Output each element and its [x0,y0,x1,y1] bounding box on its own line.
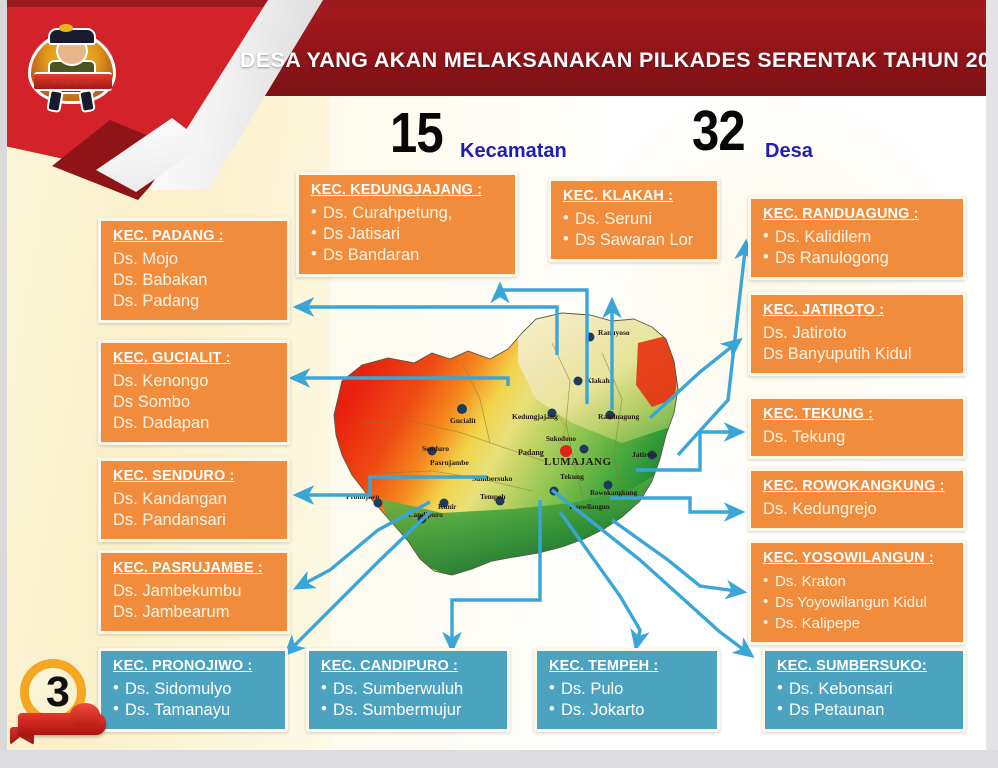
village-item: Ds. Sumberwuluh [321,679,497,700]
village-item: Ds Sawaran Lor [563,230,707,251]
village-item: Ds. Kandangan [113,489,277,510]
box-title: KEC. PADANG : [113,228,277,244]
svg-text:Padang: Padang [518,448,544,457]
village-item: Ds. Seruni [563,209,707,230]
slide-edge-bottom [0,750,998,768]
box-kec-pasrujambe[interactable]: KEC. PASRUJAMBE : Ds. Jambekumbu Ds. Jam… [98,550,290,634]
village-list: Ds. Kebonsari Ds Petaunan [777,679,953,721]
village-item: Ds Yoyowilangun Kidul [763,592,953,613]
svg-text:LUMAJANG: LUMAJANG [544,456,612,468]
village-item: Ds Bandaran [311,245,505,266]
box-title: KEC. SUMBERSUKO: [777,658,953,674]
svg-text:Ranuyoso: Ranuyoso [598,328,630,337]
box-title: KEC. CANDIPURO : [321,658,497,674]
village-item: Ds. Jambekumbu [113,581,277,602]
svg-text:Pronojiwo: Pronojiwo [346,492,379,501]
box-title: KEC. SENDURO : [113,468,277,484]
village-item: Ds. Curahpetung, [311,203,505,224]
village-item: Ds. Mojo [113,249,277,270]
village-item: Ds. Tekung [763,427,953,448]
village-item: Ds Banyuputih Kidul [763,344,953,365]
box-kec-tekung[interactable]: KEC. TEKUNG : Ds. Tekung [748,396,966,459]
village-item: Ds. Kedungrejo [763,499,953,520]
box-title: KEC. PRONOJIWO : [113,658,275,674]
box-kec-randuagung[interactable]: KEC. RANDUAGUNG : Ds. Kalidilem Ds Ranul… [748,196,966,280]
village-list: Ds. Kenongo Ds Sombo Ds. Dadapan [113,371,277,434]
svg-text:Tekung: Tekung [560,472,584,481]
village-list: Ds. Sumberwuluh Ds. Sumbermujur [321,679,497,721]
box-kec-gucialit[interactable]: KEC. GUCIALIT : Ds. Kenongo Ds Sombo Ds.… [98,340,290,445]
page-number: 3 [38,667,78,717]
village-item: Ds. Padang [113,291,277,312]
box-kec-tempeh[interactable]: KEC. TEMPEH : Ds. Pulo Ds. Jokarto [534,648,720,732]
slide-edge-right [986,0,998,768]
logo-leg-left [46,89,64,113]
box-kec-yosowilangun[interactable]: KEC. YOSOWILANGUN : Ds. Kraton Ds Yoyowi… [748,540,966,645]
svg-text:Kedungjajang: Kedungjajang [512,412,558,421]
village-list: Ds. Pulo Ds. Jokarto [549,679,707,721]
village-item: Ds. Dadapan [113,413,277,434]
svg-text:Pasrujambe: Pasrujambe [430,458,469,467]
svg-text:Candipuro: Candipuro [408,510,443,519]
village-item: Ds. Tamanayu [113,700,275,721]
count-desa-number: 32 [692,103,745,160]
village-list: Ds. Jatiroto Ds Banyuputih Kidul [763,323,953,365]
page-number-badge: 3 [10,655,110,751]
village-item: Ds. Jatiroto [763,323,953,344]
box-kec-padang[interactable]: KEC. PADANG : Ds. Mojo Ds. Babakan Ds. P… [98,218,290,323]
svg-text:Senduro: Senduro [422,444,449,453]
box-kec-rowokangkung[interactable]: KEC. ROWOKANGKUNG : Ds. Kedungrejo [748,468,966,531]
village-item: Ds. Sidomulyo [113,679,275,700]
village-item: Ds. Kalipepe [763,613,953,634]
village-item: Ds Sombo [113,392,277,413]
count-desa-label: Desa [765,140,813,163]
box-kec-jatiroto[interactable]: KEC. JATIROTO : Ds. Jatiroto Ds Banyuput… [748,292,966,376]
village-item: Ds. Babakan [113,270,277,291]
village-item: Ds Petaunan [777,700,953,721]
box-title: KEC. PASRUJAMBE : [113,560,277,576]
village-item: Ds. Jokarto [549,700,707,721]
count-kecamatan-number: 15 [390,105,443,162]
village-item: Ds. Kenongo [113,371,277,392]
svg-text:Sumbersuko: Sumbersuko [472,474,513,483]
village-list: Ds. Kalidilem Ds Ranulogong [763,227,953,269]
box-kec-candipuro[interactable]: KEC. CANDIPURO : Ds. Sumberwuluh Ds. Sum… [306,648,510,732]
police-cap-icon [48,28,96,45]
count-kecamatan-label: Kecamatan [460,140,567,163]
svg-text:Jatiroto: Jatiroto [632,450,658,459]
svg-text:Klakah: Klakah [586,376,611,385]
map-svg: Ranuyoso Klakah Kedungjajang Randuagung … [322,303,682,593]
box-title: KEC. TEMPEH : [549,658,707,674]
presisi-police-logo: PRESISI [22,14,122,114]
box-title: KEC. YOSOWILANGUN : [763,550,953,566]
village-item: Ds Ranulogong [763,248,953,269]
slide-edge-left [0,0,7,768]
village-item: Ds. Jambearum [113,602,277,623]
village-item: Ds. Kebonsari [777,679,953,700]
village-item: Ds. Pandansari [113,510,277,531]
map-relief-layers [322,303,682,593]
box-title: KEC. ROWOKANGKUNG : [763,478,953,494]
box-kec-klakah[interactable]: KEC. KLAKAH : Ds. Seruni Ds Sawaran Lor [548,178,720,262]
box-title: KEC. KEDUNGJAJANG : [311,182,505,198]
village-list: Ds. Jambekumbu Ds. Jambearum [113,581,277,623]
page-title: DESA YANG AKAN MELAKSANAKAN PILKADES SER… [240,48,990,73]
village-item: Ds. Sumbermujur [321,700,497,721]
svg-text:Gucialit: Gucialit [450,416,476,425]
village-list: Ds. Kedungrejo [763,499,953,520]
box-title: KEC. KLAKAH : [563,188,707,204]
village-list: Ds. Seruni Ds Sawaran Lor [563,209,707,251]
village-item: Ds. Kraton [763,571,953,592]
svg-text:Tempeh: Tempeh [480,492,506,501]
box-kec-kedungjajang[interactable]: KEC. KEDUNGJAJANG : Ds. Curahpetung, Ds … [296,172,518,277]
box-title: KEC. JATIROTO : [763,302,953,318]
svg-text:Sukodono: Sukodono [546,435,576,443]
logo-ribbon: PRESISI [34,72,112,91]
infographic-slide: DESA YANG AKAN MELAKSANAKAN PILKADES SER… [0,0,998,768]
village-item: Ds. Kalidilem [763,227,953,248]
lumajang-relief-map: Ranuyoso Klakah Kedungjajang Randuagung … [322,303,682,593]
box-title: KEC. GUCIALIT : [113,350,277,366]
village-item: Ds Jatisari [311,224,505,245]
village-list: Ds. Sidomulyo Ds. Tamanayu [113,679,275,721]
village-list: Ds. Mojo Ds. Babakan Ds. Padang [113,249,277,312]
svg-text:Kunir: Kunir [438,503,456,511]
village-list: Ds. Kraton Ds Yoyowilangun Kidul Ds. Kal… [763,571,953,634]
header-top-stripe [0,0,998,7]
svg-text:Yosowilangun: Yosowilangun [568,503,610,511]
village-list: Ds. Kandangan Ds. Pandansari [113,489,277,531]
svg-text:Randuagung: Randuagung [598,412,640,421]
svg-text:Rowokangkung: Rowokangkung [590,489,638,497]
village-list: Ds. Curahpetung, Ds Jatisari Ds Bandaran [311,203,505,266]
village-item: Ds. Pulo [549,679,707,700]
box-kec-pronojiwo[interactable]: KEC. PRONOJIWO : Ds. Sidomulyo Ds. Taman… [98,648,288,732]
logo-ribbon-text: PRESISI [34,74,112,89]
box-title: KEC. TEKUNG : [763,406,953,422]
box-kec-sumbersuko[interactable]: KEC. SUMBERSUKO: Ds. Kebonsari Ds Petaun… [762,648,966,732]
box-kec-senduro[interactable]: KEC. SENDURO : Ds. Kandangan Ds. Pandans… [98,458,290,542]
village-list: Ds. Tekung [763,427,953,448]
box-title: KEC. RANDUAGUNG : [763,206,953,222]
